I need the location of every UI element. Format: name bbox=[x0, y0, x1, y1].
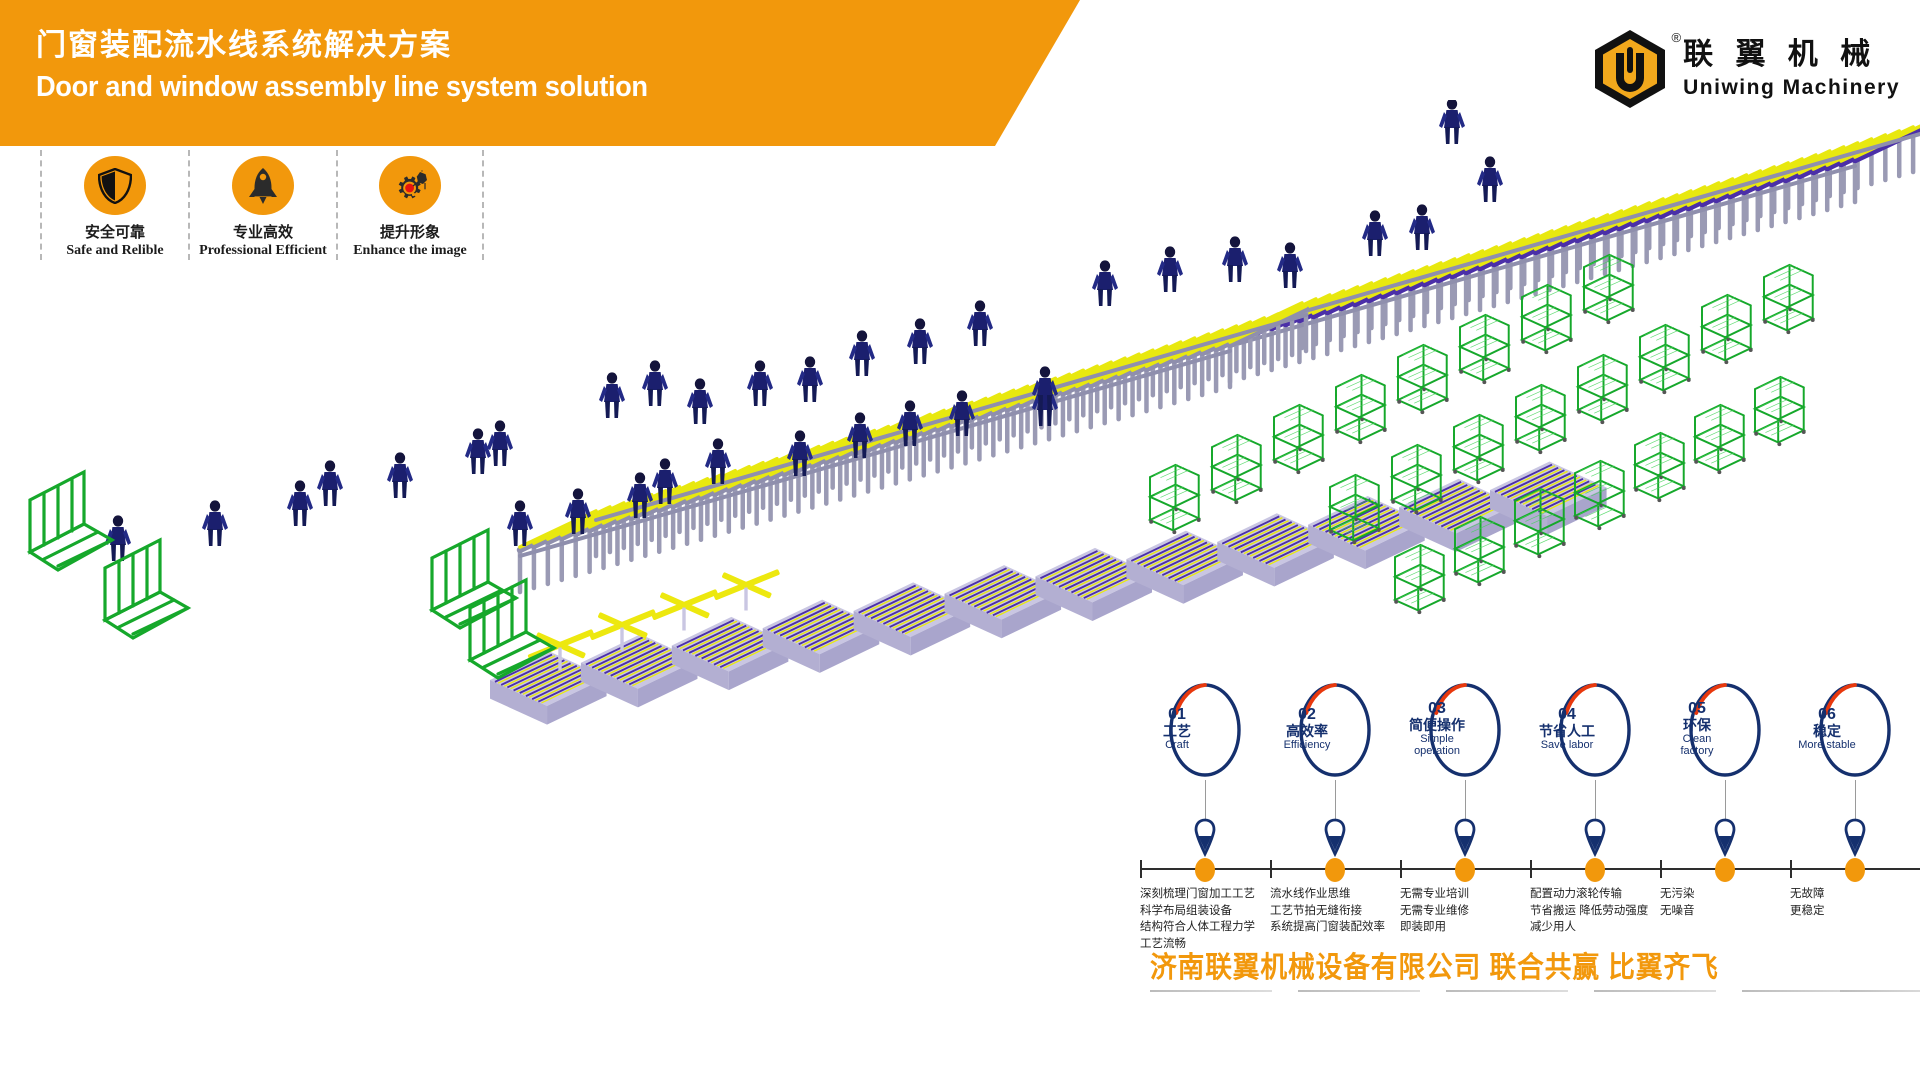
timeline-label-cn: 环保 bbox=[1683, 717, 1711, 733]
timeline-description-line: 即装即用 bbox=[1400, 919, 1526, 936]
timeline-description-02: 流水线作业思维工艺节拍无缝衔接系统提高门窗装配效率 bbox=[1270, 886, 1400, 952]
timeline-label-cn: 节省人工 bbox=[1539, 723, 1595, 739]
timeline-axis-dot bbox=[1455, 858, 1475, 882]
timeline-item-text: 02高效率Efficiency bbox=[1270, 680, 1344, 776]
timeline-pin-icon bbox=[1140, 818, 1270, 860]
timeline-description-line: 配置动力滚轮传输 bbox=[1530, 886, 1656, 903]
timeline-axis-dot bbox=[1845, 858, 1865, 882]
timeline-axis-tick bbox=[1270, 860, 1272, 878]
timeline-axis-tick bbox=[1660, 860, 1662, 878]
timeline-label-en: Efficiency bbox=[1284, 739, 1331, 751]
timeline-item-02[interactable]: 02高效率Efficiency bbox=[1270, 680, 1400, 780]
timeline-description-line: 工艺节拍无缝衔接 bbox=[1270, 903, 1396, 920]
timeline-axis-tick bbox=[1400, 860, 1402, 878]
timeline-item-text: 04节省人工Save labor bbox=[1530, 680, 1604, 776]
footer-slogan-text: 济南联翼机械设备有限公司 联合共赢 比翼齐飞 bbox=[1150, 944, 1858, 986]
timeline-description-line: 结构符合人体工程力学 bbox=[1140, 919, 1266, 936]
timeline-axis-dot bbox=[1195, 858, 1215, 882]
slogan-rule bbox=[1840, 990, 1920, 992]
header-title-group: 门窗装配流水线系统解决方案 Door and window assembly l… bbox=[36, 26, 856, 108]
timeline-label-cn: 稳定 bbox=[1813, 723, 1841, 739]
timeline-item-text: 06稳定More stable bbox=[1790, 680, 1864, 776]
timeline-pin-icon bbox=[1400, 818, 1530, 860]
timeline-axis-dot bbox=[1325, 858, 1345, 882]
timeline-label-en: Simple operation bbox=[1406, 733, 1468, 757]
slogan-rule bbox=[1298, 990, 1420, 992]
timeline-label-en: More stable bbox=[1798, 739, 1855, 751]
yellow-window-frame-part bbox=[651, 589, 718, 631]
timeline-description-line: 科学布局组装设备 bbox=[1140, 903, 1266, 920]
slogan-rule bbox=[1150, 990, 1272, 992]
uniwing-hexagon-u-logo-icon: ® bbox=[1591, 28, 1669, 110]
timeline-description-line: 无噪音 bbox=[1660, 903, 1786, 920]
timeline-stem bbox=[1400, 780, 1530, 822]
footer-slogan: 济南联翼机械设备有限公司 联合共赢 比翼齐飞 bbox=[1150, 944, 1920, 1004]
benefits-timeline: 01工艺Craft02高效率Efficiency03简便操作Simple ope… bbox=[1140, 680, 1920, 940]
registered-trademark-icon: ® bbox=[1672, 30, 1682, 45]
timeline-label-cn: 简便操作 bbox=[1409, 717, 1465, 733]
timeline-description-line: 流水线作业思维 bbox=[1270, 886, 1396, 903]
timeline-description-line: 无需专业维修 bbox=[1400, 903, 1526, 920]
timeline-description-06: 无故障更稳定 bbox=[1790, 886, 1920, 952]
timeline-item-text: 01工艺Craft bbox=[1140, 680, 1214, 776]
timeline-label-cn: 高效率 bbox=[1286, 723, 1328, 739]
timeline-item-text: 03简便操作Simple operation bbox=[1400, 680, 1474, 776]
timeline-pin-icon bbox=[1270, 818, 1400, 860]
timeline-description-line: 减少用人 bbox=[1530, 919, 1656, 936]
timeline-description-line: 无故障 bbox=[1790, 886, 1916, 903]
timeline-stem bbox=[1530, 780, 1660, 822]
timeline-number: 05 bbox=[1688, 700, 1706, 717]
timeline-description-05: 无污染无噪音 bbox=[1660, 886, 1790, 952]
timeline-axis-dot bbox=[1715, 858, 1735, 882]
timeline-number: 04 bbox=[1558, 706, 1576, 723]
timeline-item-05[interactable]: 05环保Clean factory bbox=[1660, 680, 1790, 780]
timeline-axis bbox=[1140, 858, 1920, 880]
brand-logo: ® 联 翼 机 械 Uniwing Machinery bbox=[1591, 28, 1900, 110]
timeline-item-06[interactable]: 06稳定More stable bbox=[1790, 680, 1920, 780]
timeline-description-01: 深刻梳理门窗加工工艺科学布局组装设备结构符合人体工程力学工艺流畅 bbox=[1140, 886, 1270, 952]
timeline-pin-icon bbox=[1790, 818, 1920, 860]
timeline-item-01[interactable]: 01工艺Craft bbox=[1140, 680, 1270, 780]
timeline-stem bbox=[1140, 780, 1270, 822]
timeline-axis-tick bbox=[1790, 860, 1792, 878]
timeline-axis-dot bbox=[1585, 858, 1605, 882]
timeline-description-line: 无污染 bbox=[1660, 886, 1786, 903]
timeline-description-row: 深刻梳理门窗加工工艺科学布局组装设备结构符合人体工程力学工艺流畅流水线作业思维工… bbox=[1140, 886, 1920, 952]
timeline-item-04[interactable]: 04节省人工Save labor bbox=[1530, 680, 1660, 780]
page-title-cn: 门窗装配流水线系统解决方案 bbox=[36, 26, 856, 66]
timeline-pin-row bbox=[1140, 818, 1920, 860]
timeline-number: 03 bbox=[1428, 700, 1446, 717]
timeline-axis-tick bbox=[1530, 860, 1532, 878]
timeline-description-line: 系统提高门窗装配效率 bbox=[1270, 919, 1396, 936]
logo-name-cn: 联 翼 机 械 bbox=[1683, 37, 1900, 73]
timeline-number: 01 bbox=[1168, 706, 1186, 723]
timeline-description-line: 深刻梳理门窗加工工艺 bbox=[1140, 886, 1266, 903]
timeline-description-line: 无需专业培训 bbox=[1400, 886, 1526, 903]
timeline-stem bbox=[1660, 780, 1790, 822]
yellow-window-frame-part bbox=[713, 569, 780, 611]
timeline-number: 06 bbox=[1818, 706, 1836, 723]
timeline-pin-icon bbox=[1660, 818, 1790, 860]
timeline-label-en: Clean factory bbox=[1666, 733, 1728, 757]
timeline-stem bbox=[1790, 780, 1920, 822]
timeline-description-line: 节省搬运 降低劳动强度 bbox=[1530, 903, 1656, 920]
timeline-stem bbox=[1270, 780, 1400, 822]
slogan-rule bbox=[1594, 990, 1716, 992]
timeline-item-text: 05环保Clean factory bbox=[1660, 680, 1734, 776]
timeline-label-en: Craft bbox=[1165, 739, 1189, 751]
timeline-number: 02 bbox=[1298, 706, 1316, 723]
logo-name-en: Uniwing Machinery bbox=[1683, 75, 1900, 101]
timeline-description-03: 无需专业培训无需专业维修即装即用 bbox=[1400, 886, 1530, 952]
timeline-description-04: 配置动力滚轮传输节省搬运 降低劳动强度减少用人 bbox=[1530, 886, 1660, 952]
timeline-axis-tick bbox=[1140, 860, 1142, 878]
timeline-label-cn: 工艺 bbox=[1163, 723, 1191, 739]
timeline-label-en: Save labor bbox=[1541, 739, 1594, 751]
timeline-description-line: 更稳定 bbox=[1790, 903, 1916, 920]
upper-gravity-roller-conveyor bbox=[1230, 123, 1920, 382]
timeline-item-03[interactable]: 03简便操作Simple operation bbox=[1400, 680, 1530, 780]
timeline-pin-icon bbox=[1530, 818, 1660, 860]
slogan-rule bbox=[1446, 990, 1568, 992]
timeline-stem-row bbox=[1140, 780, 1920, 822]
timeline-circle-row: 01工艺Craft02高效率Efficiency03简便操作Simple ope… bbox=[1140, 680, 1920, 780]
